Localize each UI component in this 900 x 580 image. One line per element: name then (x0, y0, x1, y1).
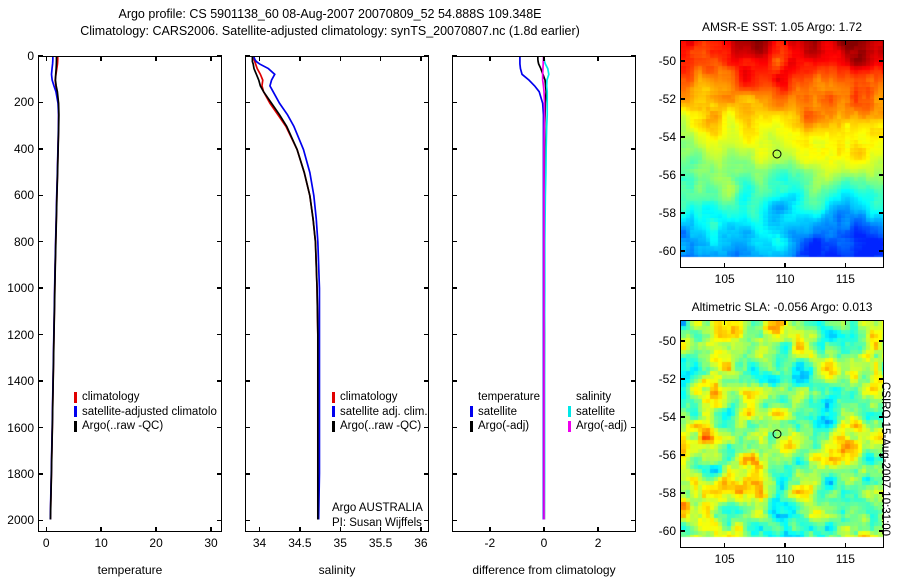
map-xtick-label: 110 (775, 552, 794, 566)
ytick (245, 55, 250, 56)
csiro-timestamp: CSIRO 15-Aug-2007 10:31:00 (879, 382, 891, 536)
map-ytick (879, 174, 884, 175)
ytick (631, 55, 636, 56)
ytick (424, 287, 429, 288)
ytick (631, 520, 636, 521)
ytick (38, 148, 43, 149)
ytick (38, 241, 43, 242)
map-ytick (879, 250, 884, 251)
legend-difference-temperature: temperature satellite Argo(-adj) (470, 390, 540, 434)
legend-item: satellite (568, 405, 627, 420)
xtick-label: 34 (253, 536, 266, 550)
ytick (217, 520, 222, 521)
map-xtick (845, 40, 846, 45)
legend-swatch-argo (470, 421, 473, 432)
ytick (38, 195, 43, 196)
xtick (210, 56, 211, 61)
legend-label: climatology (82, 390, 140, 405)
ytick (452, 241, 457, 242)
map-xtick (724, 543, 725, 548)
map-xtick (845, 320, 846, 325)
ytick (38, 473, 43, 474)
map-title-sst: AMSR-E SST: 1.05 Argo: 1.72 (702, 20, 862, 34)
map-ytick (680, 378, 685, 379)
ytick (245, 427, 250, 428)
xtick (543, 56, 544, 61)
legend-item: Argo(-adj) (470, 419, 540, 434)
ytick (424, 380, 429, 381)
legend-swatch-satellite (74, 406, 77, 417)
ytick (38, 334, 43, 335)
ytick (38, 520, 43, 521)
xtick (380, 527, 381, 532)
map-ytick (879, 60, 884, 61)
ytick (245, 334, 250, 335)
ytick (631, 473, 636, 474)
attribution-line-1: Argo AUSTRALIA (332, 501, 423, 516)
ytick-label: 1200 (0, 328, 34, 342)
xtick-label: 36 (414, 536, 427, 550)
series-line (520, 57, 544, 519)
map-xtick-label: 115 (836, 552, 855, 566)
map-xtick-label: 115 (836, 272, 855, 286)
sla-field-image (681, 321, 883, 547)
map-ytick-label: -56 (644, 448, 676, 462)
map-ytick (879, 98, 884, 99)
xaxis-label-salinity: salinity (245, 563, 429, 577)
map-ytick (680, 60, 685, 61)
xtick (210, 527, 211, 532)
ytick (631, 287, 636, 288)
xtick (340, 527, 341, 532)
ytick (217, 287, 222, 288)
xtick (420, 56, 421, 61)
attribution-note: Argo AUSTRALIA PI: Susan Wijffels (332, 501, 423, 531)
ytick (38, 427, 43, 428)
legend-swatch-argo (332, 421, 335, 432)
ytick (424, 55, 429, 56)
ytick (452, 427, 457, 428)
map-ytick (680, 250, 685, 251)
map-xtick (784, 40, 785, 45)
legend-difference-salinity: salinity satellite Argo(-adj) (568, 390, 627, 434)
legend-label: Argo(..raw -QC) (340, 419, 421, 434)
ytick-label: 200 (0, 95, 34, 109)
ytick (217, 334, 222, 335)
ytick (217, 241, 222, 242)
figure-canvas: Argo profile: CS 5901138_60 08-Aug-2007 … (0, 0, 900, 580)
ytick (38, 287, 43, 288)
legend-label: Argo(-adj) (478, 419, 529, 434)
ytick (217, 473, 222, 474)
map-ytick (879, 136, 884, 137)
ytick-label: 1400 (0, 374, 34, 388)
ytick (452, 380, 457, 381)
map-xtick (784, 263, 785, 268)
ytick (245, 380, 250, 381)
map-ytick-label: -56 (644, 168, 676, 182)
legend-salinity-panel: climatology satellite adj. clim. Argo(..… (332, 390, 428, 434)
map-xtick (845, 263, 846, 268)
map-ytick (879, 416, 884, 417)
ytick-label: 1800 (0, 467, 34, 481)
ytick (245, 287, 250, 288)
map-ytick (680, 340, 685, 341)
xtick (340, 56, 341, 61)
xtick (299, 56, 300, 61)
map-xtick (784, 543, 785, 548)
ytick-label: 800 (0, 235, 34, 249)
xtick (597, 527, 598, 532)
legend-item: satellite (470, 405, 540, 420)
legend-label: satellite (478, 405, 517, 420)
map-xtick (724, 40, 725, 45)
ytick (452, 473, 457, 474)
map-ytick-label: -60 (644, 524, 676, 538)
ytick (424, 520, 429, 521)
xaxis-label-difference: difference from climatology (452, 563, 636, 577)
ytick (245, 520, 250, 521)
legend-swatch-argo (74, 421, 77, 432)
map-ytick (680, 174, 685, 175)
ytick (631, 148, 636, 149)
legend-item: Argo(..raw -QC) (74, 419, 217, 434)
map-ytick (879, 454, 884, 455)
ytick-label: 2000 (0, 513, 34, 527)
map-ytick (879, 530, 884, 531)
xtick (259, 527, 260, 532)
legend-item: satellite-adjusted climatolo (74, 405, 217, 420)
map-ytick (879, 492, 884, 493)
xtick (489, 527, 490, 532)
legend-label: Argo(-adj) (576, 419, 627, 434)
map-ytick-label: -54 (644, 410, 676, 424)
ytick-label: 1000 (0, 281, 34, 295)
legend-item: Argo(..raw -QC) (332, 419, 428, 434)
ytick (245, 241, 250, 242)
ytick (631, 195, 636, 196)
xtick-label: 0 (541, 536, 548, 550)
map-xtick (784, 320, 785, 325)
difference-profile-curves (453, 57, 635, 531)
ytick (424, 427, 429, 428)
attribution-line-2: PI: Susan Wijffels (332, 516, 423, 531)
title-line-1: Argo profile: CS 5901138_60 08-Aug-2007 … (0, 6, 660, 23)
ytick (424, 148, 429, 149)
xtick-label: 10 (94, 536, 107, 550)
ytick (452, 287, 457, 288)
ytick (424, 473, 429, 474)
ytick-label: 400 (0, 142, 34, 156)
legend-label: satellite adj. clim. (340, 405, 428, 420)
ytick (631, 241, 636, 242)
ytick (631, 427, 636, 428)
figure-title: Argo profile: CS 5901138_60 08-Aug-2007 … (0, 6, 660, 40)
map-ytick (879, 340, 884, 341)
legend-item: satellite adj. clim. (332, 405, 428, 420)
map-ytick-label: -50 (644, 54, 676, 68)
ytick (424, 102, 429, 103)
legend-label: climatology (340, 390, 398, 405)
legend-swatch-salinity-argo (568, 421, 571, 432)
xtick-label: -2 (485, 536, 496, 550)
ytick (424, 241, 429, 242)
legend-swatch-satellite (470, 406, 473, 417)
legend-swatch-salinity-satellite (568, 406, 571, 417)
xtick (380, 56, 381, 61)
ytick (217, 195, 222, 196)
legend-label: satellite (576, 405, 615, 420)
ytick (452, 55, 457, 56)
ytick (452, 520, 457, 521)
legend-label: Argo(..raw -QC) (82, 419, 163, 434)
ytick (245, 148, 250, 149)
map-ytick-label: -58 (644, 486, 676, 500)
map-ytick (680, 530, 685, 531)
xtick-label: 30 (204, 536, 217, 550)
ytick (217, 55, 222, 56)
xtick-label: 35.5 (369, 536, 392, 550)
ytick (217, 427, 222, 428)
map-xtick (724, 263, 725, 268)
sst-field-image (681, 41, 883, 267)
xtick-label: 20 (149, 536, 162, 550)
ytick (245, 473, 250, 474)
xtick (259, 56, 260, 61)
ytick (631, 334, 636, 335)
legend-label: satellite-adjusted climatolo (82, 405, 217, 420)
legend-swatch-climatology (74, 392, 77, 403)
xtick (543, 527, 544, 532)
ytick (424, 334, 429, 335)
xaxis-label-temperature: temperature (38, 563, 222, 577)
map-xtick-label: 105 (715, 552, 735, 566)
map-ytick (680, 492, 685, 493)
legend-item: Argo(-adj) (568, 419, 627, 434)
map-ytick-label: -52 (644, 92, 676, 106)
legend-item: climatology (332, 390, 428, 405)
xtick-label: 35 (334, 536, 347, 550)
argo-position-marker-sla (773, 429, 782, 438)
temperature-profile-curves (39, 57, 221, 531)
ytick (217, 102, 222, 103)
legend-header-temperature: temperature (470, 390, 540, 405)
map-ytick (680, 416, 685, 417)
xtick (420, 527, 421, 532)
map-ytick (680, 98, 685, 99)
xtick (155, 527, 156, 532)
ytick (631, 380, 636, 381)
map-ytick-label: -52 (644, 372, 676, 386)
xtick-label: 2 (595, 536, 602, 550)
legend-swatch-satellite (332, 406, 335, 417)
xtick-label: 34.5 (288, 536, 311, 550)
map-ytick (680, 454, 685, 455)
map-title-sla: Altimetric SLA: -0.056 Argo: 0.013 (692, 300, 873, 314)
map-ytick-label: -50 (644, 334, 676, 348)
ytick (245, 195, 250, 196)
map-xtick (724, 320, 725, 325)
map-ytick (879, 378, 884, 379)
ytick (452, 195, 457, 196)
map-ytick-label: -58 (644, 206, 676, 220)
map-xtick-label: 105 (715, 272, 735, 286)
map-ytick (680, 212, 685, 213)
map-ytick (879, 212, 884, 213)
ytick (631, 102, 636, 103)
xtick (46, 56, 47, 61)
ytick (38, 380, 43, 381)
map-ytick-label: -54 (644, 130, 676, 144)
argo-position-marker-sst (773, 149, 782, 158)
title-line-2: Climatology: CARS2006. Satellite-adjuste… (0, 23, 660, 40)
ytick (452, 334, 457, 335)
salinity-profile-curves (246, 57, 428, 531)
map-ytick-label: -60 (644, 244, 676, 258)
xtick (100, 527, 101, 532)
legend-item: climatology (74, 390, 217, 405)
legend-temperature-panel: climatology satellite-adjusted climatolo… (74, 390, 217, 434)
ytick-label: 0 (0, 49, 34, 63)
ytick-label: 1600 (0, 421, 34, 435)
xtick (597, 56, 598, 61)
ytick (452, 102, 457, 103)
ytick (452, 148, 457, 149)
ytick (245, 102, 250, 103)
legend-header-salinity: salinity (568, 390, 627, 405)
ytick-label: 600 (0, 188, 34, 202)
xtick (489, 56, 490, 61)
ytick (217, 148, 222, 149)
xtick (155, 56, 156, 61)
map-xtick-label: 110 (775, 272, 794, 286)
ytick (424, 195, 429, 196)
legend-swatch-climatology (332, 392, 335, 403)
xtick (100, 56, 101, 61)
xtick-label: 0 (43, 536, 50, 550)
ytick (38, 55, 43, 56)
ytick (38, 102, 43, 103)
ytick (217, 380, 222, 381)
xtick (299, 527, 300, 532)
map-ytick (680, 136, 685, 137)
xtick (46, 527, 47, 532)
map-xtick (845, 543, 846, 548)
